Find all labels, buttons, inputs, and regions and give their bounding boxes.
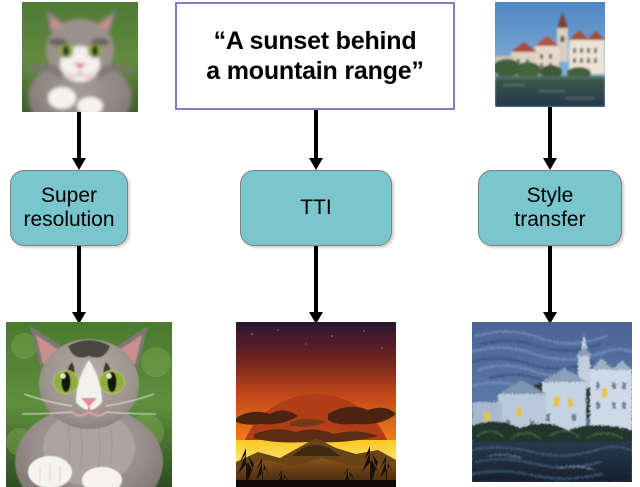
process-box-super-resolution[interactable]: Super resolution xyxy=(10,170,128,246)
process-label-line-2: transfer xyxy=(514,208,585,231)
process-label-line-1: Style xyxy=(527,184,574,207)
diagram-canvas: “A sunset behind a mountain range” xyxy=(0,0,640,487)
riverside-town-photo xyxy=(495,2,605,107)
process-label-line-2: resolution xyxy=(23,208,114,231)
process-label-tti: TTI xyxy=(300,196,332,220)
process-label-style-transfer: Style transfer xyxy=(514,184,585,233)
low-resolution-cat-photo xyxy=(22,2,138,112)
generated-sunset-image xyxy=(236,322,396,487)
prompt-line-1: “A sunset behind xyxy=(214,27,417,55)
stylized-town-painting xyxy=(472,322,632,482)
process-box-style-transfer[interactable]: Style transfer xyxy=(478,170,622,246)
process-box-tti[interactable]: TTI xyxy=(240,170,392,246)
process-label-super-resolution: Super resolution xyxy=(23,184,114,233)
prompt-text: “A sunset behind a mountain range” xyxy=(200,26,429,87)
high-resolution-cat-photo xyxy=(6,322,172,487)
prompt-text-box: “A sunset behind a mountain range” xyxy=(175,2,455,110)
prompt-line-2: a mountain range” xyxy=(206,57,423,85)
process-label-line-1: Super xyxy=(41,184,97,207)
